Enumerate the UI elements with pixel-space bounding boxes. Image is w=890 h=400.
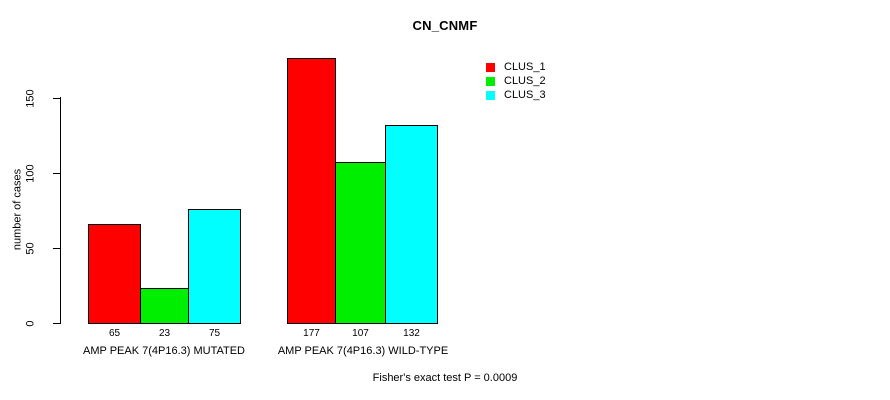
y-axis-title: number of cases bbox=[13, 150, 24, 270]
bar-value-group1-clus1: 65 bbox=[88, 329, 141, 339]
y-axis-tick-50 bbox=[53, 248, 60, 249]
legend: CLUS_1 CLUS_2 CLUS_3 bbox=[486, 60, 546, 102]
bar-value-group1-clus3: 75 bbox=[188, 329, 241, 339]
y-axis-tick-label-50: 50 bbox=[26, 237, 37, 261]
y-axis-tick-label-100: 100 bbox=[26, 162, 37, 186]
legend-label-clus1: CLUS_1 bbox=[504, 62, 546, 73]
bar-group2-clus3 bbox=[385, 125, 438, 324]
bar-value-group1-clus2: 23 bbox=[140, 329, 189, 339]
legend-swatch-icon-clus2 bbox=[486, 77, 495, 86]
legend-label-clus3: CLUS_3 bbox=[504, 90, 546, 101]
y-axis-tick-100 bbox=[53, 173, 60, 174]
y-axis-tick-0 bbox=[53, 323, 60, 324]
legend-label-clus2: CLUS_2 bbox=[504, 76, 546, 87]
legend-swatch-icon-clus3 bbox=[486, 91, 495, 100]
legend-swatch-icon-clus1 bbox=[486, 63, 495, 72]
legend-item-clus1: CLUS_1 bbox=[486, 60, 546, 74]
legend-item-clus3: CLUS_3 bbox=[486, 88, 546, 102]
page-title: CN_CNMF bbox=[0, 18, 890, 33]
statistical-test-annotation: Fisher's exact test P = 0.0009 bbox=[0, 372, 890, 384]
bar-value-group2-clus1: 177 bbox=[287, 329, 336, 339]
bar-group2-clus1 bbox=[287, 58, 336, 324]
y-axis-tick-label-0: 0 bbox=[26, 312, 37, 336]
y-axis-tick-label-150: 150 bbox=[26, 87, 37, 111]
bar-group1-clus3 bbox=[188, 209, 241, 324]
group-label-wildtype: AMP PEAK 7(4P16.3) WILD-TYPE bbox=[243, 346, 483, 357]
bar-group1-clus2 bbox=[140, 288, 189, 324]
bar-chart-plot: CN_CNMF 0 50 100 150 number of cases 65 … bbox=[0, 0, 890, 400]
bar-group2-clus2 bbox=[335, 162, 386, 324]
bar-group1-clus1 bbox=[88, 224, 141, 324]
bar-value-group2-clus3: 132 bbox=[385, 329, 438, 339]
legend-item-clus2: CLUS_2 bbox=[486, 74, 546, 88]
bar-value-group2-clus2: 107 bbox=[335, 329, 386, 339]
y-axis-line bbox=[60, 97, 61, 324]
y-axis-tick-150 bbox=[53, 98, 60, 99]
